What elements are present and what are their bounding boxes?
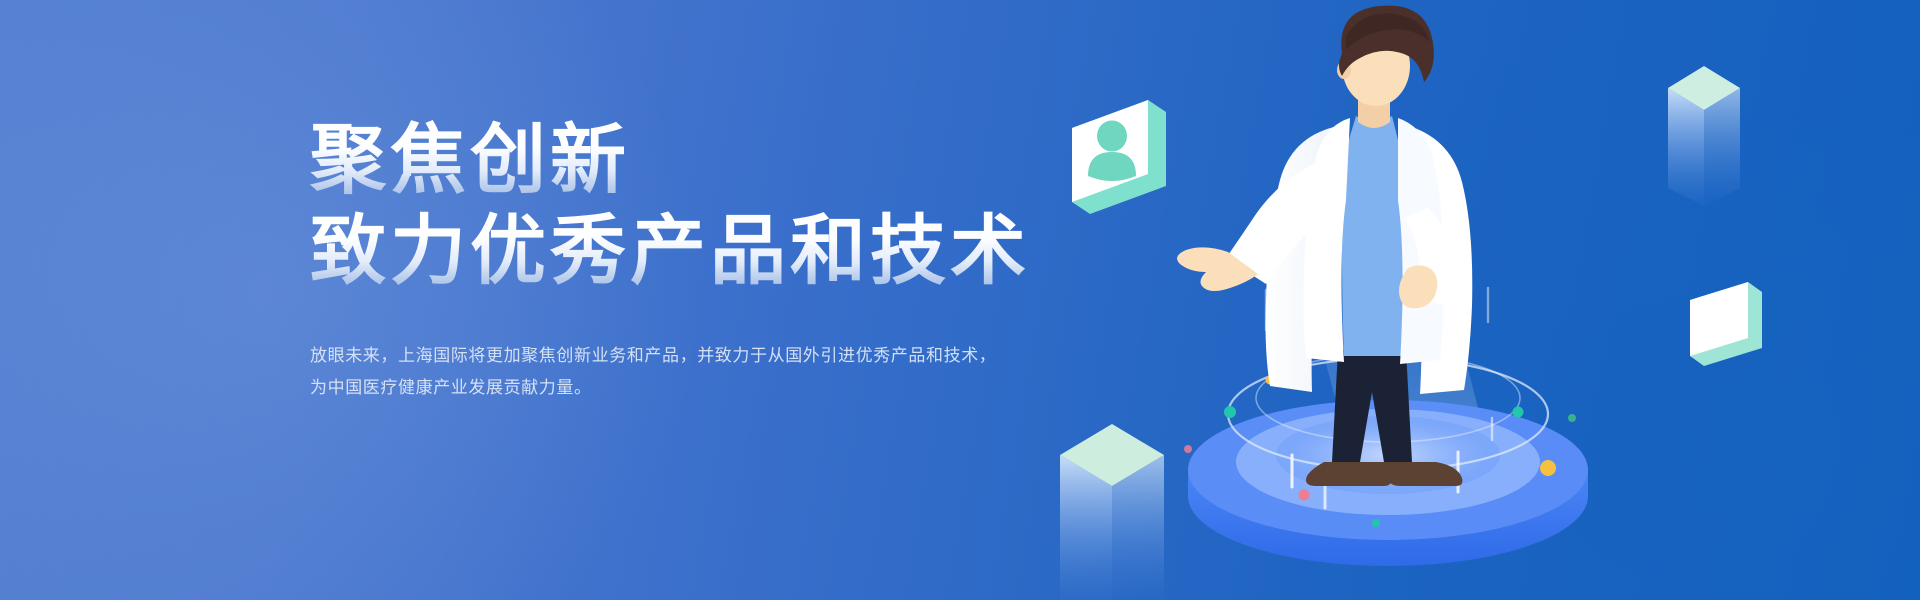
floating-card-right bbox=[1690, 282, 1762, 366]
banner-copy: 聚焦创新 致力优秀产品和技术 放眼未来，上海国际将更加聚焦创新业务和产品，并致力… bbox=[310, 118, 1070, 403]
hero-banner: 聚焦创新 致力优秀产品和技术 放眼未来，上海国际将更加聚焦创新业务和产品，并致力… bbox=[0, 0, 1920, 600]
floating-column-left bbox=[1060, 424, 1164, 600]
banner-description: 放眼未来，上海国际将更加聚焦创新业务和产品，并致力于从国外引进优秀产品和技术，为… bbox=[310, 340, 1010, 403]
hero-illustration bbox=[1020, 0, 1920, 600]
floating-column-right bbox=[1668, 66, 1740, 206]
headline-line-1: 聚焦创新 bbox=[310, 118, 1070, 203]
headline-line-2: 致力优秀产品和技术 bbox=[310, 209, 1070, 294]
user-profile-card bbox=[1072, 100, 1166, 214]
